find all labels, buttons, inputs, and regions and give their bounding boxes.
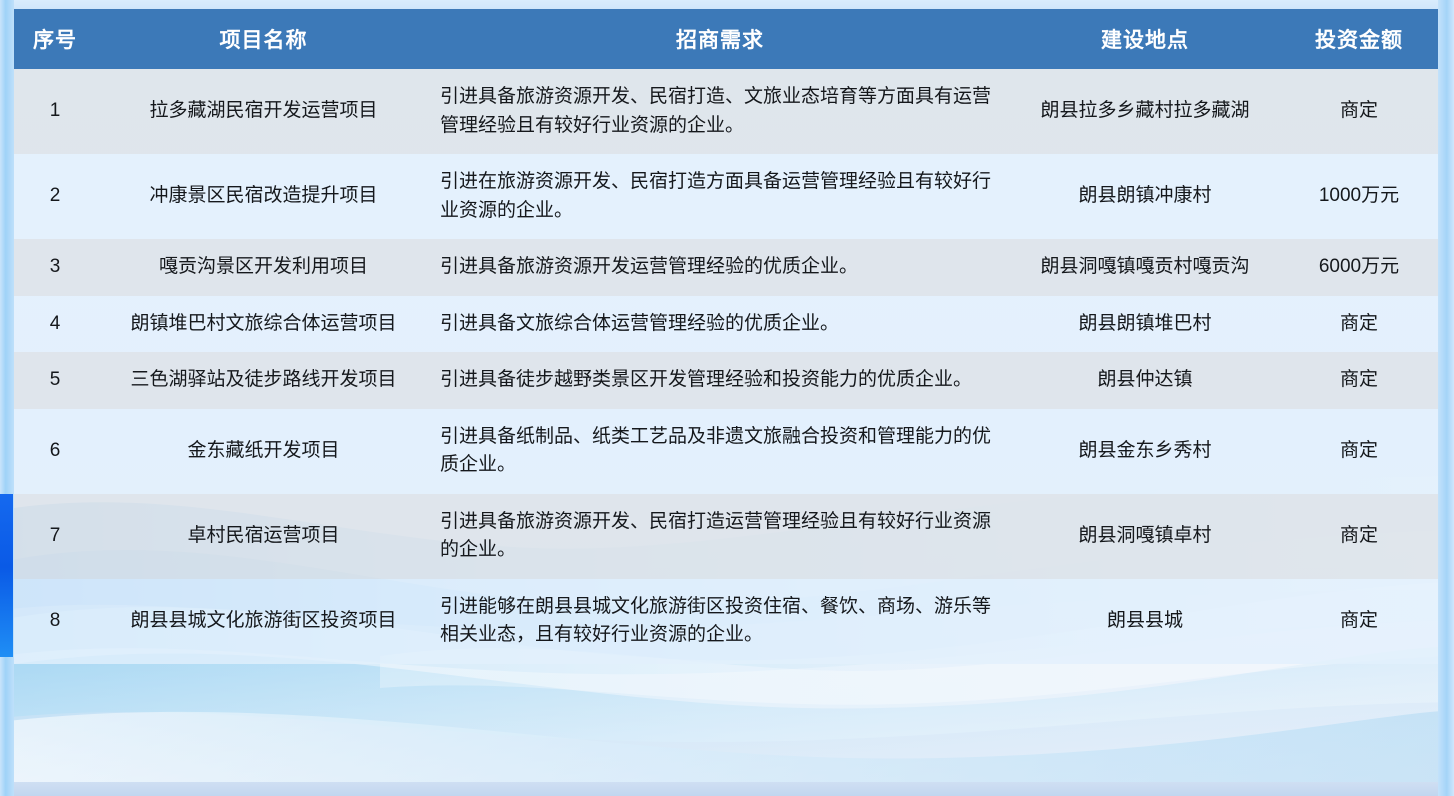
- cell-amount: 商定: [1280, 579, 1438, 664]
- cell-amount: 商定: [1280, 296, 1438, 353]
- cell-name: 拉多藏湖民宿开发运营项目: [97, 69, 430, 154]
- cell-no: 8: [13, 579, 97, 664]
- cell-demand: 引进具备文旅综合体运营管理经验的优质企业。: [430, 296, 1010, 353]
- cell-demand: 引进具备旅游资源开发、民宿打造运营管理经验且有较好行业资源的企业。: [430, 494, 1010, 579]
- row-no-text: 1: [13, 97, 97, 126]
- cell-name: 三色湖驿站及徒步路线开发项目: [97, 352, 430, 409]
- row-name-text: 嘎贡沟景区开发利用项目: [97, 253, 430, 282]
- row-demand-text: 引进具备旅游资源开发、民宿打造、文旅业态培育等方面具有运营管理经验且有较好行业资…: [430, 83, 1010, 140]
- bottom-edge-strip: [0, 782, 1454, 796]
- cell-demand: 引进具备纸制品、纸类工艺品及非遗文旅融合投资和管理能力的优质企业。: [430, 409, 1010, 494]
- cell-no: 7: [13, 494, 97, 579]
- cell-amount: 商定: [1280, 69, 1438, 154]
- row-demand-text: 引进具备徒步越野类景区开发管理经验和投资能力的优质企业。: [430, 366, 1010, 395]
- cell-place: 朗县洞嘎镇嘎贡村嘎贡沟: [1010, 239, 1280, 296]
- table-row: 2 冲康景区民宿改造提升项目 引进在旅游资源开发、民宿打造方面具备运营管理经验且…: [13, 154, 1438, 239]
- row-amount-text: 商定: [1280, 310, 1438, 339]
- cell-no: 3: [13, 239, 97, 296]
- column-header-place: 建设地点: [1010, 9, 1280, 69]
- row-name-text: 金东藏纸开发项目: [97, 437, 430, 466]
- cell-place: 朗县拉多乡藏村拉多藏湖: [1010, 69, 1280, 154]
- table-body: 1 拉多藏湖民宿开发运营项目 引进具备旅游资源开发、民宿打造、文旅业态培育等方面…: [13, 69, 1438, 664]
- table-row: 4 朗镇堆巴村文旅综合体运营项目 引进具备文旅综合体运营管理经验的优质企业。 朗…: [13, 296, 1438, 353]
- row-demand-text: 引进具备文旅综合体运营管理经验的优质企业。: [430, 310, 1010, 339]
- row-amount-text: 商定: [1280, 522, 1438, 551]
- row-amount-text: 商定: [1280, 607, 1438, 636]
- table-row: 3 嘎贡沟景区开发利用项目 引进具备旅游资源开发运营管理经验的优质企业。 朗县洞…: [13, 239, 1438, 296]
- cell-place: 朗县仲达镇: [1010, 352, 1280, 409]
- cell-name: 金东藏纸开发项目: [97, 409, 430, 494]
- project-table: 序号 项目名称 招商需求 建设地点 投资金额 1 拉多藏湖民宿开发运营项目 引进…: [13, 9, 1438, 664]
- row-name-text: 朗县县城文化旅游街区投资项目: [97, 607, 430, 636]
- column-header-no: 序号: [13, 9, 97, 69]
- cell-no: 1: [13, 69, 97, 154]
- table-row: 7 卓村民宿运营项目 引进具备旅游资源开发、民宿打造运营管理经验且有较好行业资源…: [13, 494, 1438, 579]
- cell-amount: 商定: [1280, 352, 1438, 409]
- row-name-text: 朗镇堆巴村文旅综合体运营项目: [97, 310, 430, 339]
- table-header: 序号 项目名称 招商需求 建设地点 投资金额: [13, 9, 1438, 69]
- table-row: 1 拉多藏湖民宿开发运营项目 引进具备旅游资源开发、民宿打造、文旅业态培育等方面…: [13, 69, 1438, 154]
- row-name-text: 三色湖驿站及徒步路线开发项目: [97, 366, 430, 395]
- row-amount-text: 商定: [1280, 366, 1438, 395]
- investment-project-table-page: 序号 项目名称 招商需求 建设地点 投资金额 1 拉多藏湖民宿开发运营项目 引进…: [0, 0, 1454, 796]
- right-edge-strip: [1438, 0, 1454, 796]
- row-place-text: 朗县金东乡秀村: [1010, 437, 1280, 466]
- row-place-text: 朗县拉多乡藏村拉多藏湖: [1010, 97, 1280, 126]
- row-demand-text: 引进具备纸制品、纸类工艺品及非遗文旅融合投资和管理能力的优质企业。: [430, 423, 1010, 480]
- row-amount-text: 商定: [1280, 437, 1438, 466]
- cell-place: 朗县县城: [1010, 579, 1280, 664]
- row-amount-text: 1000万元: [1280, 182, 1438, 211]
- cell-no: 5: [13, 352, 97, 409]
- row-no-text: 6: [13, 437, 97, 466]
- row-no-text: 5: [13, 366, 97, 395]
- row-demand-text: 引进具备旅游资源开发、民宿打造运营管理经验且有较好行业资源的企业。: [430, 508, 1010, 565]
- row-demand-text: 引进能够在朗县县城文化旅游街区投资住宿、餐饮、商场、游乐等相关业态，且有较好行业…: [430, 593, 1010, 650]
- row-place-text: 朗县洞嘎镇嘎贡村嘎贡沟: [1010, 253, 1280, 282]
- cell-amount: 1000万元: [1280, 154, 1438, 239]
- table-row: 8 朗县县城文化旅游街区投资项目 引进能够在朗县县城文化旅游街区投资住宿、餐饮、…: [13, 579, 1438, 664]
- cell-no: 6: [13, 409, 97, 494]
- row-place-text: 朗县朗镇堆巴村: [1010, 310, 1280, 339]
- left-edge-strip: [0, 0, 14, 796]
- cell-demand: 引进具备旅游资源开发运营管理经验的优质企业。: [430, 239, 1010, 296]
- column-header-name: 项目名称: [97, 9, 430, 69]
- cell-amount: 6000万元: [1280, 239, 1438, 296]
- cell-name: 朗镇堆巴村文旅综合体运营项目: [97, 296, 430, 353]
- project-table-container: 序号 项目名称 招商需求 建设地点 投资金额 1 拉多藏湖民宿开发运营项目 引进…: [13, 9, 1438, 664]
- row-place-text: 朗县仲达镇: [1010, 366, 1280, 395]
- row-place-text: 朗县县城: [1010, 607, 1280, 636]
- cell-name: 嘎贡沟景区开发利用项目: [97, 239, 430, 296]
- cell-place: 朗县洞嘎镇卓村: [1010, 494, 1280, 579]
- row-demand-text: 引进具备旅游资源开发运营管理经验的优质企业。: [430, 253, 1010, 282]
- cell-no: 4: [13, 296, 97, 353]
- table-row: 6 金东藏纸开发项目 引进具备纸制品、纸类工艺品及非遗文旅融合投资和管理能力的优…: [13, 409, 1438, 494]
- cell-place: 朗县朗镇堆巴村: [1010, 296, 1280, 353]
- row-demand-text: 引进在旅游资源开发、民宿打造方面具备运营管理经验且有较好行业资源的企业。: [430, 168, 1010, 225]
- table-header-row: 序号 项目名称 招商需求 建设地点 投资金额: [13, 9, 1438, 69]
- row-name-text: 冲康景区民宿改造提升项目: [97, 182, 430, 211]
- row-place-text: 朗县朗镇冲康村: [1010, 182, 1280, 211]
- cell-name: 朗县县城文化旅游街区投资项目: [97, 579, 430, 664]
- cell-amount: 商定: [1280, 494, 1438, 579]
- row-no-text: 7: [13, 522, 97, 551]
- row-no-text: 8: [13, 607, 97, 636]
- cell-amount: 商定: [1280, 409, 1438, 494]
- cell-demand: 引进在旅游资源开发、民宿打造方面具备运营管理经验且有较好行业资源的企业。: [430, 154, 1010, 239]
- cell-demand: 引进能够在朗县县城文化旅游街区投资住宿、餐饮、商场、游乐等相关业态，且有较好行业…: [430, 579, 1010, 664]
- row-amount-text: 6000万元: [1280, 253, 1438, 282]
- row-name-text: 拉多藏湖民宿开发运营项目: [97, 97, 430, 126]
- cell-name: 冲康景区民宿改造提升项目: [97, 154, 430, 239]
- cell-demand: 引进具备徒步越野类景区开发管理经验和投资能力的优质企业。: [430, 352, 1010, 409]
- row-no-text: 3: [13, 253, 97, 282]
- row-no-text: 2: [13, 182, 97, 211]
- row-no-text: 4: [13, 310, 97, 339]
- top-edge-strip: [0, 0, 1454, 9]
- column-header-demand: 招商需求: [430, 9, 1010, 69]
- cell-name: 卓村民宿运营项目: [97, 494, 430, 579]
- left-accent-bar: [0, 494, 13, 657]
- cell-no: 2: [13, 154, 97, 239]
- row-amount-text: 商定: [1280, 97, 1438, 126]
- row-place-text: 朗县洞嘎镇卓村: [1010, 522, 1280, 551]
- column-header-amount: 投资金额: [1280, 9, 1438, 69]
- cell-place: 朗县朗镇冲康村: [1010, 154, 1280, 239]
- row-name-text: 卓村民宿运营项目: [97, 522, 430, 551]
- table-row: 5 三色湖驿站及徒步路线开发项目 引进具备徒步越野类景区开发管理经验和投资能力的…: [13, 352, 1438, 409]
- cell-demand: 引进具备旅游资源开发、民宿打造、文旅业态培育等方面具有运营管理经验且有较好行业资…: [430, 69, 1010, 154]
- cell-place: 朗县金东乡秀村: [1010, 409, 1280, 494]
